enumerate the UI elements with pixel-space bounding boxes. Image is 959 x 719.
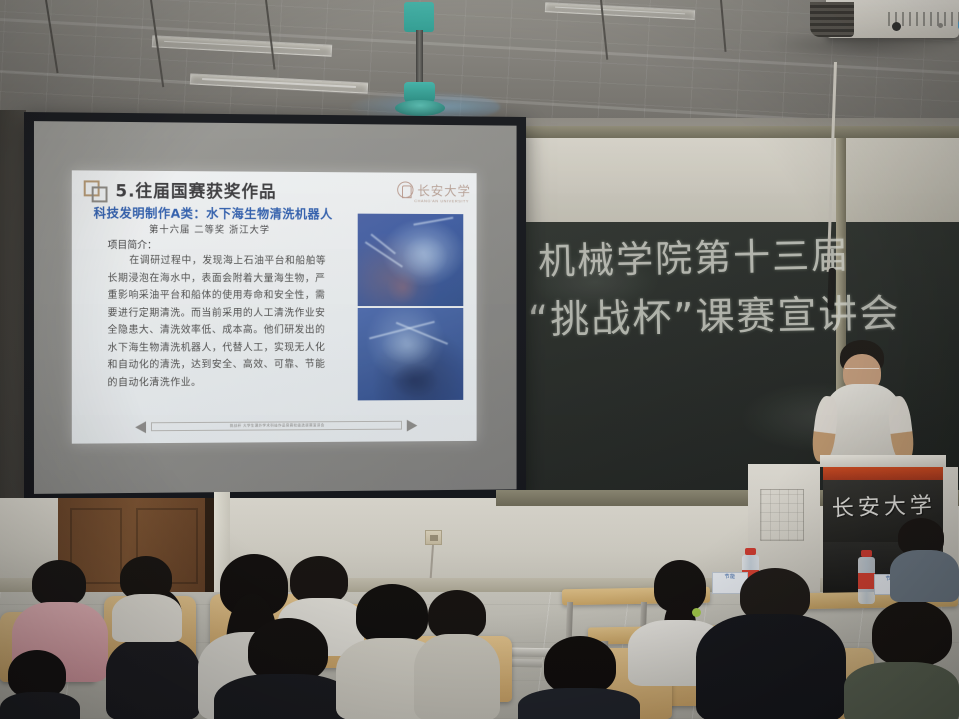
projection-screen: 5.往届国赛获奖作品 长安大学 CHANG'AN UNIVERSITY 科技发明… — [24, 112, 526, 504]
slide-decoration-squares-icon — [84, 180, 110, 202]
university-seal-icon — [397, 181, 413, 198]
slide-title: 5.往届国赛获奖作品 — [115, 177, 276, 203]
projector-led-indicator — [892, 22, 901, 31]
fan-hub — [395, 100, 445, 116]
person-torso — [890, 550, 959, 602]
lectern-desktop[interactable] — [820, 455, 946, 467]
blackboard-text-line-2: “挑战杯”课赛宣讲会 — [528, 283, 901, 345]
projector-lens-housing — [810, 2, 854, 37]
water-bottle[interactable] — [858, 550, 875, 604]
audience-member — [844, 600, 959, 719]
university-logo-subtext: CHANG'AN UNIVERSITY — [414, 198, 469, 203]
underwater-robot-photo-bottom — [358, 308, 464, 400]
audience-member — [890, 518, 959, 596]
fan-ceiling-mount — [404, 2, 434, 32]
left-wall-edge — [0, 110, 26, 550]
fan-down-rod — [416, 30, 423, 86]
person-hair — [32, 560, 86, 606]
person-torso — [112, 594, 182, 642]
university-logo-text: 长安大学 — [417, 181, 471, 200]
triangle-left-icon[interactable] — [135, 421, 146, 433]
slide-photo-group — [358, 214, 464, 401]
person-hair — [428, 590, 486, 640]
presenter-glasses-icon — [845, 368, 879, 374]
person-torso — [844, 662, 959, 719]
wall-power-outlet[interactable] — [425, 530, 442, 545]
ceiling-fan — [386, 0, 456, 112]
slide-subtitle: 科技发明制作A类：水下海生物清洗机器人 — [94, 202, 333, 222]
slide-award-line: 第十六届 二等奖 浙江大学 — [149, 222, 270, 236]
university-logo: 长安大学 — [397, 180, 471, 199]
slide-footer-nav: 挑战杯 大学生课外学术科技作品竞赛校级选拔赛宣讲会 — [135, 419, 417, 434]
presentation-slide: 5.往届国赛获奖作品 长安大学 CHANG'AN UNIVERSITY 科技发明… — [72, 170, 477, 443]
audience-member — [214, 618, 354, 719]
pointer-rod-handle[interactable] — [827, 268, 835, 310]
audience-member — [414, 590, 500, 719]
person-hair — [248, 618, 328, 682]
lectern-accent-stripe — [823, 467, 943, 480]
underwater-robot-photo-top — [358, 214, 464, 306]
slide-body-text: 在调研过程中，发现海上石油平台和船舶等长期浸泡在海水中，表面会附着大量海生物，严… — [108, 252, 335, 391]
person-torso — [0, 692, 80, 719]
slide-footer-bar: 挑战杯 大学生课外学术科技作品竞赛校级选拔赛宣讲会 — [151, 421, 402, 431]
audience-member — [0, 650, 80, 719]
wall-panel-right — [846, 138, 959, 222]
person-torso — [518, 688, 640, 719]
slide-footer-text: 挑战杯 大学生课外学术科技作品竞赛校级选拔赛宣讲会 — [230, 423, 325, 429]
person-hair — [872, 600, 952, 666]
blackboard-text-line-1: 机械学院第十三届 — [537, 225, 850, 286]
slide-intro-label: 项目简介： — [108, 236, 157, 251]
audience-member — [112, 556, 182, 626]
blackboard-top-trim — [496, 126, 959, 138]
person-torso — [414, 634, 500, 719]
audience-member — [518, 636, 640, 719]
projector-led-indicator — [938, 23, 943, 28]
audience-member — [696, 568, 846, 719]
person-torso — [106, 638, 200, 719]
bottle-label — [858, 573, 875, 589]
lectern-speaker-grille — [760, 489, 804, 541]
ceiling-projector — [800, 0, 959, 48]
classroom-photo-scene: 机械学院第十三届 “挑战杯”课赛宣讲会 5.往届国赛获奖作品 长安大学 CHAN… — [0, 0, 959, 719]
person-torso — [214, 674, 354, 719]
presenter-at-podium — [812, 340, 912, 470]
person-hair — [544, 636, 616, 694]
bottle-cap — [745, 548, 756, 555]
person-hair — [8, 650, 66, 698]
person-torso — [696, 614, 846, 719]
triangle-right-icon[interactable] — [407, 419, 418, 431]
bottle-cap — [861, 550, 872, 557]
